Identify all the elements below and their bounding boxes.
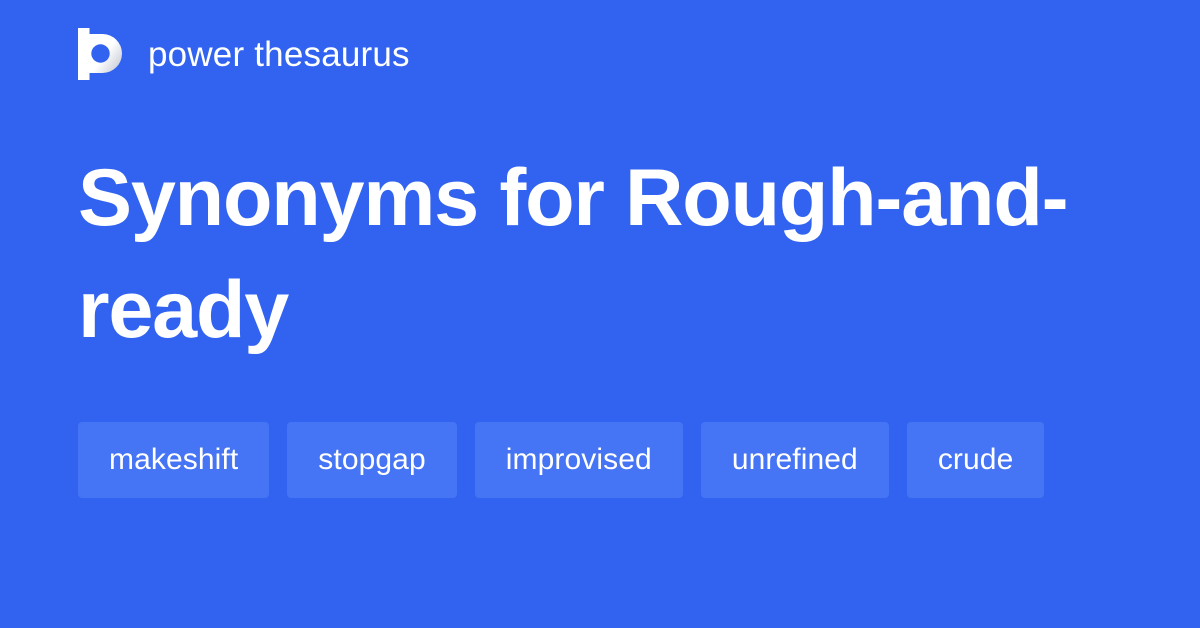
synonym-tag[interactable]: stopgap (287, 422, 456, 498)
page-title: Synonyms for Rough-and-ready (78, 142, 1108, 366)
brand-header[interactable]: power thesaurus (78, 28, 410, 80)
synonym-tag[interactable]: improvised (475, 422, 683, 498)
power-thesaurus-b-logo-icon (78, 28, 126, 80)
synonym-tag[interactable]: crude (907, 422, 1045, 498)
synonym-tag[interactable]: makeshift (78, 422, 269, 498)
synonym-tag[interactable]: unrefined (701, 422, 889, 498)
synonym-tag-list: makeshift stopgap improvised unrefined c… (78, 422, 1128, 498)
brand-name: power thesaurus (148, 37, 410, 72)
synonyms-card: power thesaurus Synonyms for Rough-and-r… (0, 0, 1200, 628)
